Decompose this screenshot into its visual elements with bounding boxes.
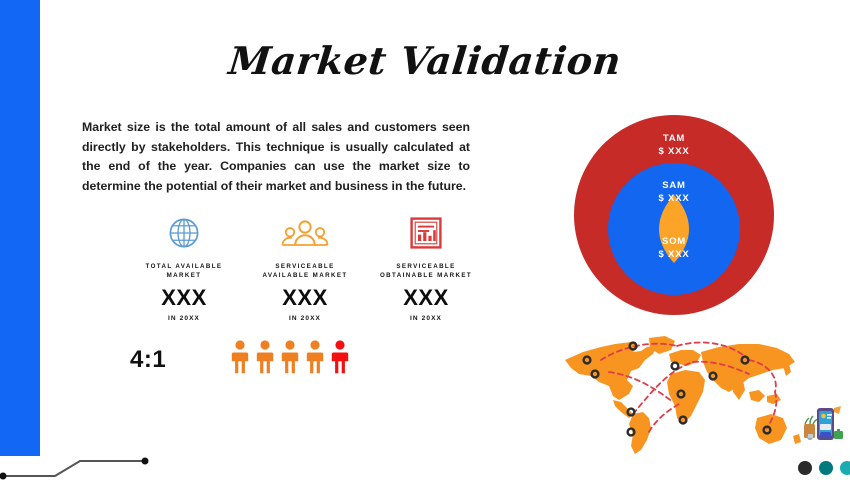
person-icon bbox=[305, 340, 325, 374]
decorative-dot-2 bbox=[819, 461, 833, 475]
som-label-group: SOM $ XXX bbox=[568, 236, 780, 260]
metric-value: XXX bbox=[372, 285, 480, 311]
tam-sam-som-diagram: TAM $ XXX SAM $ XXX SOM $ XXX bbox=[568, 113, 780, 317]
metric-year: IN 20XX bbox=[130, 315, 238, 322]
sam-amount: $ XXX bbox=[568, 193, 780, 204]
person-icon bbox=[230, 340, 250, 374]
ecommerce-illustration bbox=[793, 404, 845, 448]
sam-name: SAM bbox=[568, 180, 780, 191]
bar-chart-icon bbox=[372, 212, 480, 254]
world-map-graphic bbox=[553, 330, 805, 458]
person-icon bbox=[280, 340, 300, 379]
person-icon bbox=[255, 340, 275, 379]
metric-year: IN 20XX bbox=[251, 315, 359, 322]
tam-name: TAM bbox=[568, 133, 780, 144]
person-icon bbox=[330, 340, 350, 374]
ratio-people-icons bbox=[230, 340, 350, 379]
people-group-icon bbox=[251, 212, 359, 254]
market-metrics-row: TOTAL AVAILABLE MARKET XXX IN 20XX SERVI… bbox=[130, 212, 480, 322]
som-name: SOM bbox=[568, 236, 780, 247]
tam-amount: $ XXX bbox=[568, 146, 780, 157]
sam-label-group: SAM $ XXX bbox=[568, 180, 780, 204]
tam-label-group: TAM $ XXX bbox=[568, 133, 780, 157]
metric-label: SERVICEABLE OBTAINABLE MARKET bbox=[372, 262, 480, 280]
som-amount: $ XXX bbox=[568, 249, 780, 260]
decorative-dots bbox=[798, 461, 850, 475]
metric-year: IN 20XX bbox=[372, 315, 480, 322]
metric-value: XXX bbox=[251, 285, 359, 311]
person-icon bbox=[230, 340, 250, 379]
ratio-row: 4:1 bbox=[130, 340, 430, 379]
ratio-value: 4:1 bbox=[130, 346, 230, 374]
description-paragraph: Market size is the total amount of all s… bbox=[82, 118, 470, 196]
page-title: Market Validation bbox=[0, 38, 850, 83]
metric-label: TOTAL AVAILABLE MARKET bbox=[130, 262, 238, 280]
globe-icon bbox=[130, 212, 238, 254]
person-icon-highlighted bbox=[330, 340, 350, 379]
metric-serviceable-available-market: SERVICEABLE AVAILABLE MARKET XXX IN 20XX bbox=[251, 212, 359, 322]
person-icon bbox=[280, 340, 300, 374]
metric-label: SERVICEABLE AVAILABLE MARKET bbox=[251, 262, 359, 280]
person-icon bbox=[255, 340, 275, 374]
decorative-dot-3 bbox=[840, 461, 850, 475]
person-icon bbox=[305, 340, 325, 379]
decorative-dot-1 bbox=[798, 461, 812, 475]
metric-serviceable-obtainable-market: SERVICEABLE OBTAINABLE MARKET XXX IN 20X… bbox=[372, 212, 480, 322]
metric-value: XXX bbox=[130, 285, 238, 311]
decorative-step-line bbox=[0, 430, 200, 480]
metric-total-available-market: TOTAL AVAILABLE MARKET XXX IN 20XX bbox=[130, 212, 238, 322]
